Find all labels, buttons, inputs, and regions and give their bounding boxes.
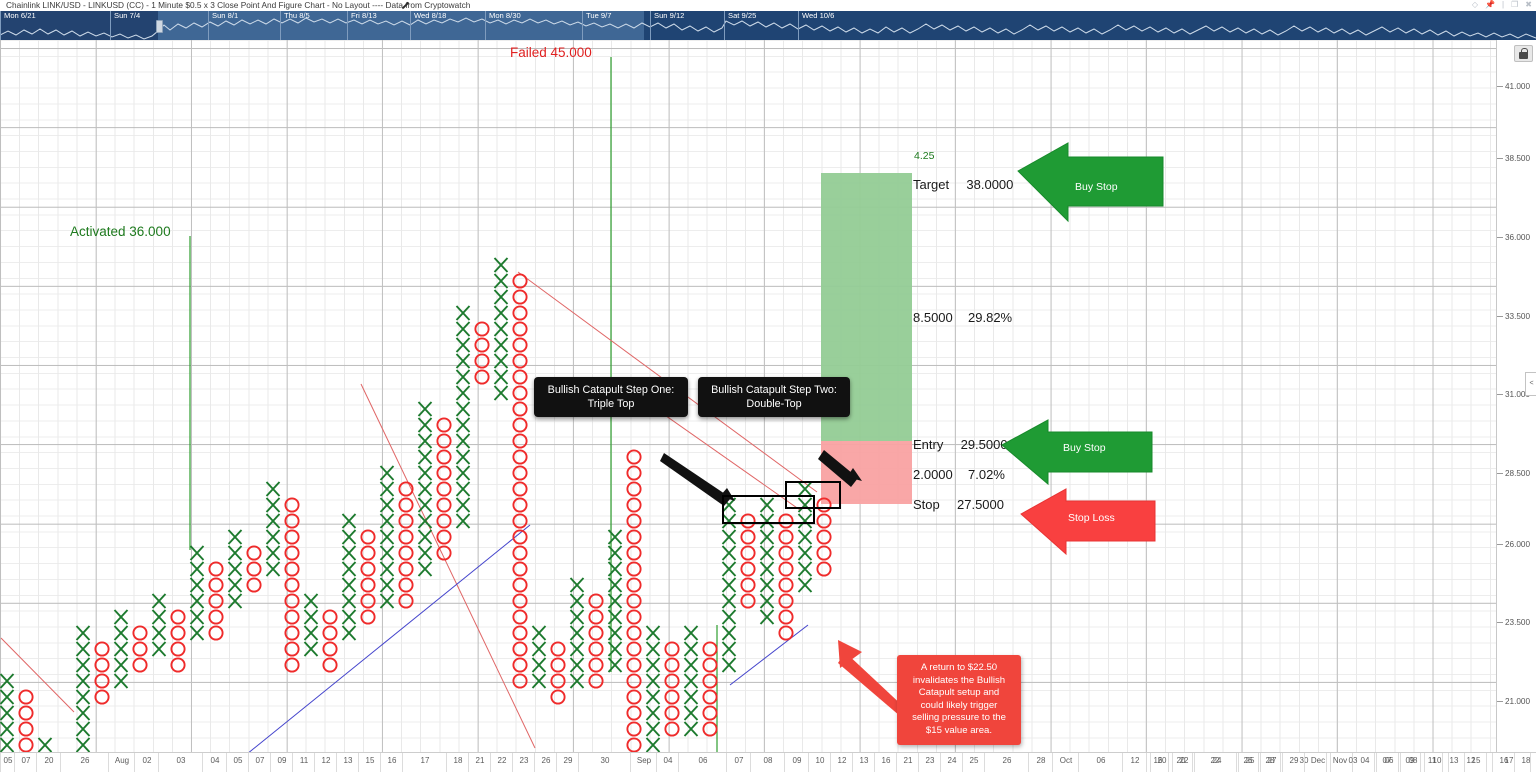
date-tick-71: 20 <box>1530 753 1536 772</box>
date-tick-18: 21 <box>468 753 491 772</box>
tooltip-step-two-line1: Bullish Catapult Step Two: <box>707 383 841 397</box>
stop-row: Stop 27.5000 <box>913 497 1004 512</box>
target-delta: 8.5000 <box>913 310 953 325</box>
navigator-segment-label: Wed 10/6 <box>800 11 834 21</box>
navigator-segment-0[interactable] <box>0 11 1 40</box>
navigator-handle-left[interactable] <box>156 20 163 33</box>
navigator-segment-4[interactable] <box>347 11 348 40</box>
date-tick-1: 07 <box>14 753 37 772</box>
date-tick-64: 03 <box>1330 753 1375 772</box>
entry-row: Entry 29.5000 <box>913 437 1008 452</box>
buy-stop-top-label-wrap: Buy Stop <box>1075 177 1118 195</box>
date-tick-29: 09 <box>784 753 809 772</box>
tooltip-step-one: Bullish Catapult Step One: Triple Top <box>534 377 688 417</box>
tooltip-step-two-line2: Double-Top <box>707 397 841 411</box>
date-tick-33: 16 <box>874 753 897 772</box>
callout-line-5: $15 value area. <box>903 725 1015 738</box>
date-tick-20: 23 <box>512 753 535 772</box>
date-axis[interactable]: 05072026Aug02030405070911121315161718212… <box>0 752 1536 772</box>
date-tick-42: 12 <box>1122 753 1147 772</box>
date-tick-2: 20 <box>36 753 61 772</box>
date-tick-35: 23 <box>918 753 941 772</box>
target-delta-row: 8.5000 29.82% <box>913 310 1012 325</box>
navigator-segment-2[interactable] <box>208 11 209 40</box>
date-tick-6: 03 <box>158 753 203 772</box>
tooltip-step-one-line1: Bullish Catapult Step One: <box>543 383 679 397</box>
date-tick-16: 17 <box>402 753 447 772</box>
date-tick-41: 06 <box>1078 753 1123 772</box>
divider-icon: | <box>1502 1 1504 9</box>
invalidation-callout: A return to $22.50 invalidates the Bulli… <box>897 655 1021 745</box>
chart-plot-area[interactable]: Activated 36.000 Failed 45.000 4.25 Targ… <box>0 40 1496 752</box>
stop-loss-label-wrap: Stop Loss <box>1068 508 1115 526</box>
buy-stop-top-label: Buy Stop <box>1075 181 1118 193</box>
stop-delta-row: 2.0000 7.02% <box>913 467 1005 482</box>
date-tick-0: 05 <box>0 753 15 772</box>
navigator-segment-label: Tue 9/7 <box>584 11 611 21</box>
date-tick-70: 17 <box>1486 753 1531 772</box>
navigator-segment-5[interactable] <box>410 11 411 40</box>
navigator-segment-9[interactable] <box>724 11 725 40</box>
date-tick-22: 29 <box>556 753 579 772</box>
navigator-segment-label: Sun 8/1 <box>210 11 238 21</box>
navigator-segment-label: Sun 9/12 <box>652 11 684 21</box>
price-tick-28.500: 28.500 <box>1497 469 1530 478</box>
navigator-segment-label: Sat 9/25 <box>726 11 756 21</box>
price-tick-36.000: 36.000 <box>1497 233 1530 242</box>
navigator-segment-8[interactable] <box>650 11 651 40</box>
navigator-segment-label: Sun 7/4 <box>112 11 140 21</box>
date-tick-67: 11 <box>1420 753 1443 772</box>
edit-pencil-icon[interactable] <box>401 1 411 10</box>
stop-label: Stop <box>913 497 940 512</box>
date-tick-4: Aug <box>108 753 135 772</box>
navigator-segment-10[interactable] <box>798 11 799 40</box>
date-tick-8: 05 <box>226 753 249 772</box>
callout-line-1: invalidates the Bullish <box>903 675 1015 688</box>
date-tick-5: 02 <box>134 753 159 772</box>
navigator-segment-6[interactable] <box>485 11 486 40</box>
date-tick-17: 18 <box>446 753 469 772</box>
date-tick-13: 13 <box>336 753 359 772</box>
date-tick-15: 16 <box>380 753 403 772</box>
price-tick-23.500: 23.500 <box>1497 618 1530 627</box>
date-tick-62: 29 <box>1282 753 1305 772</box>
target-row: Target 38.0000 <box>913 177 1013 192</box>
date-tick-59: 24 <box>1194 753 1239 772</box>
pin-icon[interactable]: 📌 <box>1485 1 1495 9</box>
date-tick-57: 20 <box>1150 753 1173 772</box>
date-tick-23: 30 <box>578 753 631 772</box>
date-tick-30: 10 <box>808 753 831 772</box>
navigator-segment-label: Fri 8/13 <box>349 11 377 21</box>
price-tick-38.500: 38.500 <box>1497 154 1530 163</box>
date-tick-66: 09 <box>1398 753 1421 772</box>
target-value: 38.0000 <box>966 177 1013 192</box>
date-tick-60: 25 <box>1238 753 1261 772</box>
date-tick-58: 22 <box>1172 753 1195 772</box>
pnf-chart-window: Chainlink LINK/USD - LINKUSD (CC) - 1 Mi… <box>0 0 1536 771</box>
price-tick-26.000: 26.000 <box>1497 540 1530 549</box>
stop-value: 27.5000 <box>957 497 1004 512</box>
date-tick-28: 08 <box>750 753 785 772</box>
target-percent: 29.82% <box>968 310 1012 325</box>
date-tick-14: 15 <box>358 753 381 772</box>
price-axis[interactable]: 41.00038.50036.00033.50031.00028.50026.0… <box>1496 40 1536 752</box>
date-tick-12: 12 <box>314 753 337 772</box>
close-icon[interactable]: ✖ <box>1525 1 1532 9</box>
callout-line-4: selling pressure to the <box>903 712 1015 725</box>
callout-line-2: Catapult setup and <box>903 687 1015 700</box>
date-tick-31: 12 <box>830 753 853 772</box>
timeline-navigator[interactable]: Mon 6/21Sun 7/4Sun 8/1Thu 8/5Fri 8/13Wed… <box>0 11 1536 40</box>
diamond-icon[interactable]: ◇ <box>1472 1 1478 9</box>
lock-icon[interactable] <box>1514 45 1533 62</box>
date-tick-40: Oct <box>1052 753 1079 772</box>
price-tick-33.500: 33.500 <box>1497 312 1530 321</box>
price-tick-41.000: 41.000 <box>1497 82 1530 91</box>
buy-stop-entry-label-wrap: Buy Stop <box>1063 438 1106 456</box>
tooltip-step-one-line2: Triple Top <box>543 397 679 411</box>
navigator-segment-1[interactable] <box>110 11 111 40</box>
navigator-segment-label: Thu 8/5 <box>282 11 310 21</box>
entry-value: 29.5000 <box>961 437 1008 452</box>
price-tick-21.000: 21.000 <box>1497 697 1530 706</box>
date-tick-34: 21 <box>896 753 919 772</box>
date-tick-11: 11 <box>292 753 315 772</box>
price-axis-collapse-handle[interactable]: < <box>1525 372 1536 396</box>
date-tick-68: 13 <box>1442 753 1465 772</box>
window-controls: ◇ 📌 | ❐ ✖ <box>1472 1 1532 9</box>
risk-reward-ratio: 4.25 <box>914 150 934 162</box>
date-tick-37: 25 <box>962 753 985 772</box>
date-tick-21: 26 <box>534 753 557 772</box>
window-title-bar: Chainlink LINK/USD - LINKUSD (CC) - 1 Mi… <box>0 0 1536 11</box>
date-tick-69: 15 <box>1464 753 1487 772</box>
tooltip-step-two: Bullish Catapult Step Two: Double-Top <box>698 377 850 417</box>
navigator-segment-label: Mon 8/30 <box>487 11 521 21</box>
date-tick-65: 07 <box>1374 753 1399 772</box>
date-tick-3: 26 <box>60 753 109 772</box>
navigator-segment-7[interactable] <box>582 11 583 40</box>
double-top-highlight-box <box>785 481 841 509</box>
callout-line-3: could likely trigger <box>903 700 1015 713</box>
restore-icon[interactable]: ❐ <box>1511 1 1518 9</box>
date-tick-36: 24 <box>940 753 963 772</box>
entry-label: Entry <box>913 437 943 452</box>
date-tick-26: 06 <box>678 753 727 772</box>
date-tick-38: 26 <box>984 753 1029 772</box>
date-tick-27: 07 <box>726 753 751 772</box>
date-tick-61: 27 <box>1260 753 1283 772</box>
navigator-segment-3[interactable] <box>280 11 281 40</box>
date-tick-24: Sep <box>630 753 657 772</box>
activated-label: Activated 36.000 <box>70 224 171 239</box>
stop-loss-label: Stop Loss <box>1068 512 1115 524</box>
date-tick-10: 09 <box>270 753 293 772</box>
date-tick-9: 07 <box>248 753 271 772</box>
failed-label: Failed 45.000 <box>510 45 592 60</box>
buy-stop-entry-label: Buy Stop <box>1063 442 1106 454</box>
navigator-segment-label: Mon 6/21 <box>2 11 36 21</box>
date-tick-39: 28 <box>1028 753 1053 772</box>
date-tick-7: 04 <box>202 753 227 772</box>
navigator-segment-label: Wed 8/18 <box>412 11 446 21</box>
date-tick-19: 22 <box>490 753 513 772</box>
navigator-right-region <box>644 11 1536 40</box>
stop-percent: 7.02% <box>968 467 1005 482</box>
stop-delta: 2.0000 <box>913 467 953 482</box>
date-tick-63: Dec <box>1304 753 1331 772</box>
callout-line-0: A return to $22.50 <box>903 662 1015 675</box>
date-tick-25: 04 <box>656 753 679 772</box>
target-label: Target <box>913 177 949 192</box>
date-tick-32: 13 <box>852 753 875 772</box>
